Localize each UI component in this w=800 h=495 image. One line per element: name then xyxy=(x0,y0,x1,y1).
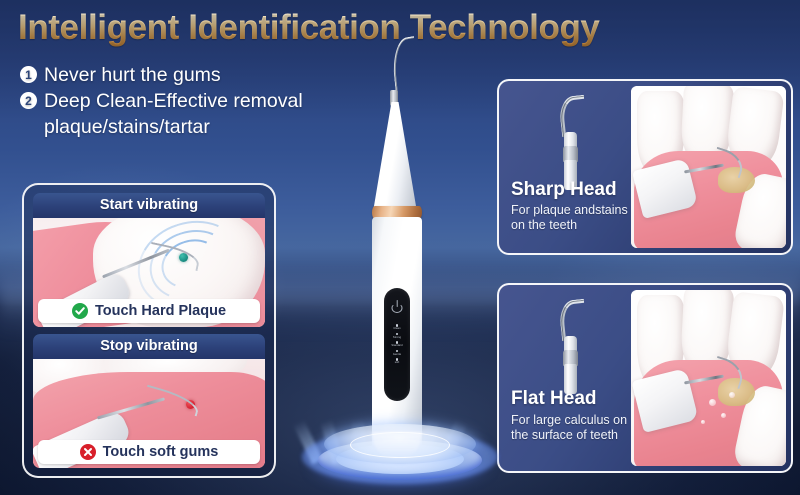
benefit-number-1: 1 xyxy=(20,66,37,83)
status-label-hard-plaque: Touch Hard Plaque xyxy=(95,303,226,319)
sharp-head-desc-line1: For plaque andstains xyxy=(511,203,643,218)
benefits-list: 1 Never hurt the gums 2 Deep Clean-Effec… xyxy=(20,62,303,140)
bubble-3 xyxy=(729,392,735,398)
benefit-text-2: Deep Clean-Effective removal xyxy=(44,88,303,114)
device-mode-row-1: Strong xyxy=(386,333,408,339)
vibration-card-stop: Stop vibrating xyxy=(33,334,265,468)
page-title: Intelligent Identification Technology xyxy=(18,8,600,48)
tip-card-flat-head: Flat Head For large calculus on the surf… xyxy=(497,283,793,473)
benefit-number-2: 2 xyxy=(20,92,37,109)
benefit-item-2: 2 Deep Clean-Effective removal xyxy=(20,88,303,114)
vibration-card-start: Start vibrating xyxy=(33,193,265,327)
device-mode-row-2: Standard xyxy=(386,341,408,347)
flat-head-title: Flat Head xyxy=(511,388,597,410)
device-mode-label-1: Strong xyxy=(393,336,401,339)
status-label-soft-gums: Touch soft gums xyxy=(103,444,219,460)
vibration-card-stop-illustration: Touch soft gums xyxy=(33,359,265,468)
device-control-panel[interactable]: Clean Strong Standard Gentle soft xyxy=(384,288,410,401)
device-mode-label-3: Gentle xyxy=(393,353,401,356)
power-icon[interactable] xyxy=(391,300,404,313)
flat-head-photo xyxy=(631,290,786,466)
device-mode-label-0: Clean xyxy=(393,327,400,330)
sharp-head-photo xyxy=(631,86,786,248)
sharp-head-desc-line2: on the teeth xyxy=(511,218,643,233)
check-circle-icon xyxy=(72,303,88,319)
device-scaler-tip-shadow xyxy=(391,37,419,96)
sharp-head-tip-graphic xyxy=(551,90,591,190)
benefit-item-1: 1 Never hurt the gums xyxy=(20,62,303,88)
status-badge-soft-gums: Touch soft gums xyxy=(38,440,260,464)
ultrasonic-scaler-device: Clean Strong Standard Gentle soft xyxy=(355,38,447,458)
benefit-text-2-continued: plaque/stains/tartar xyxy=(44,114,303,140)
device-mode-indicators: Clean Strong Standard Gentle soft xyxy=(384,324,410,367)
device-mode-label-4: soft xyxy=(395,361,400,364)
teeth-cleaning-scene xyxy=(631,86,786,248)
flat-head-tip-graphic xyxy=(551,294,591,394)
vibration-card-start-illustration: Touch Hard Plaque xyxy=(33,218,265,327)
tip-card-sharp-head: Sharp Head For plaque andstains on the t… xyxy=(497,79,793,255)
status-badge-hard-plaque: Touch Hard Plaque xyxy=(38,299,260,323)
product-marketing-banner: Intelligent Identification Technology 1 … xyxy=(0,0,800,495)
sharp-head-title: Sharp Head xyxy=(511,179,617,201)
device-mode-row-0: Clean xyxy=(386,324,408,330)
flat-head-info: Flat Head For large calculus on the surf… xyxy=(499,285,627,471)
teeth-cleaning-scene xyxy=(631,290,786,466)
vibration-card-stop-header: Stop vibrating xyxy=(33,334,265,359)
benefit-text-1: Never hurt the gums xyxy=(44,62,221,88)
flat-head-desc-line1: For large calculus on xyxy=(511,413,643,428)
vibration-card-start-header: Start vibrating xyxy=(33,193,265,218)
sharp-head-info: Sharp Head For plaque andstains on the t… xyxy=(499,81,627,253)
flat-head-desc-line2: the surface of teeth xyxy=(511,428,643,443)
device-mode-row-3: Gentle xyxy=(386,350,408,356)
x-circle-icon xyxy=(80,444,96,460)
sharp-head-description: For plaque andstains on the teeth xyxy=(511,203,643,233)
vibration-comparison-panel: Start vibrating xyxy=(22,183,276,478)
device-cone xyxy=(373,102,417,212)
flat-head-description: For large calculus on the surface of tee… xyxy=(511,413,643,443)
bubble-1 xyxy=(709,399,716,406)
device-mode-label-2: Standard xyxy=(391,344,402,347)
device-mode-row-4: soft xyxy=(386,358,408,364)
